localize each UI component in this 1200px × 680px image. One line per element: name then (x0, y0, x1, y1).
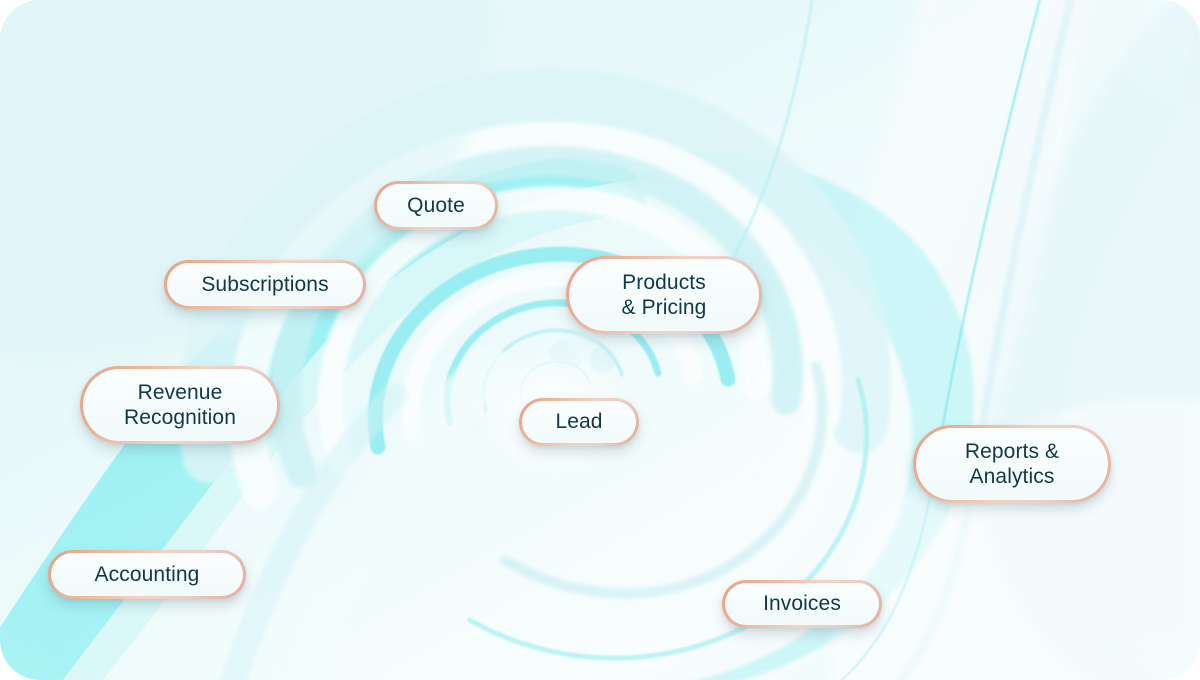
pill-label-quote: Quote (407, 193, 465, 218)
pill-accounting[interactable]: Accounting (48, 550, 246, 599)
pill-label-reports-analytics: Reports & Analytics (965, 439, 1059, 489)
pill-lead[interactable]: Lead (519, 398, 639, 446)
pill-label-revenue-recognition: Revenue Recognition (124, 380, 236, 430)
pill-subscriptions[interactable]: Subscriptions (164, 260, 366, 309)
pill-products-pricing[interactable]: Products & Pricing (566, 256, 762, 334)
pill-quote[interactable]: Quote (374, 181, 498, 230)
pill-label-subscriptions: Subscriptions (201, 272, 328, 297)
pill-label-lead: Lead (555, 409, 602, 434)
pill-invoices[interactable]: Invoices (722, 580, 882, 628)
pill-label-products-pricing: Products & Pricing (622, 270, 707, 320)
pill-revenue-recognition[interactable]: Revenue Recognition (80, 366, 280, 444)
pill-reports-analytics[interactable]: Reports & Analytics (913, 425, 1111, 503)
pill-label-invoices: Invoices (763, 591, 841, 616)
pill-label-accounting: Accounting (95, 562, 200, 587)
diagram-canvas: QuoteSubscriptionsProducts & PricingReve… (0, 0, 1200, 680)
